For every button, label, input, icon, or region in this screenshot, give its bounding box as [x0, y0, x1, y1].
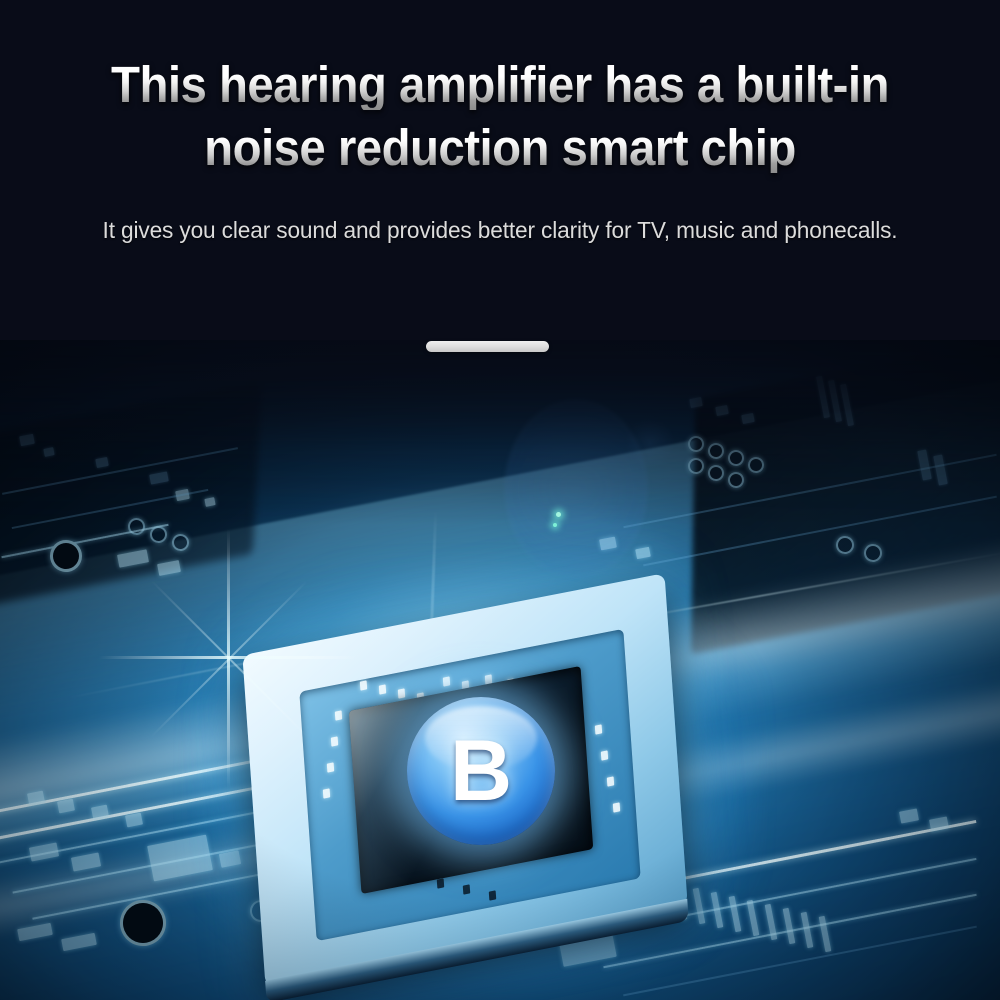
header-text-block: This hearing amplifier has a built-in no… [0, 0, 1000, 420]
headline-line-1: This hearing amplifier has a built-in [35, 59, 965, 110]
subtitle: It gives you clear sound and provides be… [18, 217, 983, 244]
cpu-chip: B [155, 585, 795, 985]
photo-base-gradient: B [0, 340, 1000, 1000]
lens-flare-icon [505, 400, 647, 577]
led-highlight-icon [553, 523, 557, 527]
b-logo-badge-icon: B [407, 697, 555, 845]
led-highlight-icon [556, 512, 561, 517]
lens-flare-icon [625, 418, 675, 468]
pill-divider-icon [426, 341, 549, 352]
headline-line-2: noise reduction smart chip [35, 122, 965, 173]
circuit-board-photo: B [0, 340, 1000, 1000]
logo-letter: B [407, 697, 555, 845]
product-feature-banner: B [0, 0, 1000, 1000]
